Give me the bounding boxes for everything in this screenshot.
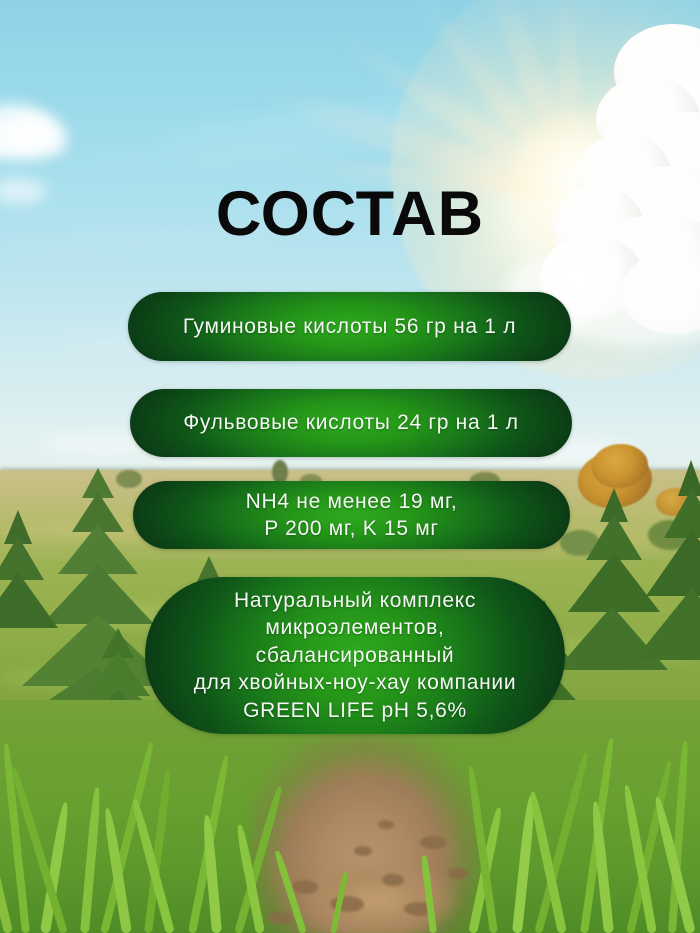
composition-item-label: Фульвовые кислоты 24 гр на 1 л [183,409,518,436]
composition-item-fulvic-acids: Фульвовые кислоты 24 гр на 1 л [130,389,572,457]
composition-item-label: NH4 не менее 19 мг, P 200 мг, K 15 мг [246,488,458,543]
composition-item-label: Гуминовые кислоты 56 гр на 1 л [183,313,516,340]
poster-canvas: СОСТАВ Гуминовые кислоты 56 гр на 1 л Фу… [0,0,700,933]
composition-item-microelements: Натуральный комплекс микроэлементов, сба… [145,577,565,734]
content-overlay: СОСТАВ Гуминовые кислоты 56 гр на 1 л Фу… [0,0,700,933]
composition-item-label: Натуральный комплекс микроэлементов, сба… [194,587,517,725]
composition-item-humic-acids: Гуминовые кислоты 56 гр на 1 л [128,292,571,361]
composition-item-npk: NH4 не менее 19 мг, P 200 мг, K 15 мг [133,481,570,549]
page-title: СОСТАВ [0,183,700,246]
